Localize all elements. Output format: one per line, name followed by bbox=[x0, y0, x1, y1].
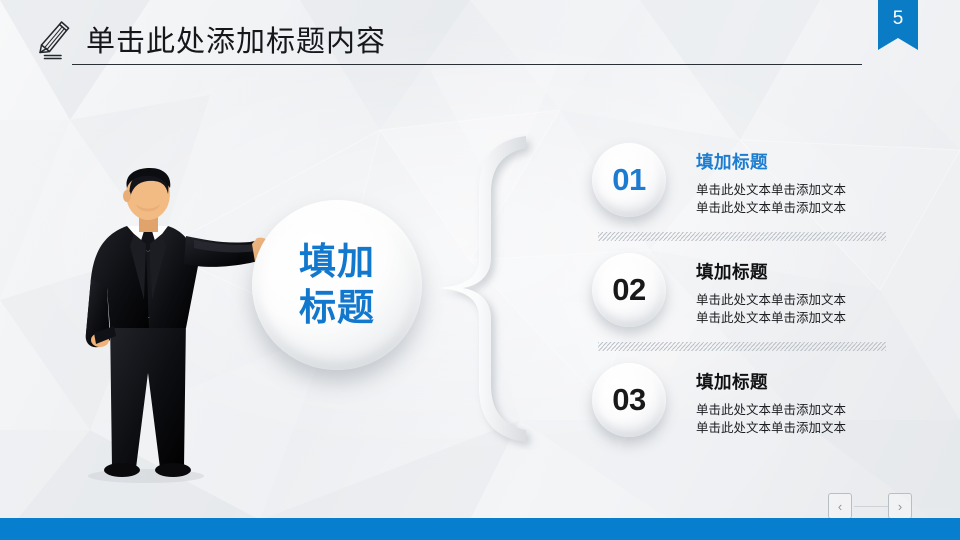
center-title-line1: 填加 bbox=[299, 239, 375, 285]
item-body-line1: 单击此处文本单击添加文本 bbox=[696, 291, 896, 309]
item-body-line2: 单击此处文本单击添加文本 bbox=[696, 309, 896, 327]
item-separator bbox=[598, 232, 886, 241]
curly-brace-decoration bbox=[432, 128, 564, 450]
title-underline bbox=[72, 64, 862, 65]
item-number-circle-02[interactable]: 02 bbox=[592, 253, 666, 327]
item-text-block: 填加标题 单击此处文本单击添加文本 单击此处文本单击添加文本 bbox=[696, 369, 896, 437]
next-slide-button[interactable]: › bbox=[888, 493, 912, 519]
item-body-line2: 单击此处文本单击添加文本 bbox=[696, 419, 896, 437]
item-number-circle-01[interactable]: 01 bbox=[592, 143, 666, 217]
slide-navigation: ‹ › bbox=[828, 493, 912, 519]
businessman-illustration bbox=[74, 168, 269, 483]
item-heading: 填加标题 bbox=[696, 259, 896, 284]
nav-connector-line bbox=[854, 506, 888, 507]
item-separator bbox=[598, 342, 886, 351]
item-number-label: 03 bbox=[612, 382, 645, 418]
item-heading: 填加标题 bbox=[696, 369, 896, 394]
item-number-circle-03[interactable]: 03 bbox=[592, 363, 666, 437]
item-number-label: 02 bbox=[612, 272, 645, 308]
pencil-icon bbox=[30, 18, 76, 66]
item-body-line1: 单击此处文本单击添加文本 bbox=[696, 181, 896, 199]
item-body-line2: 单击此处文本单击添加文本 bbox=[696, 199, 896, 217]
item-text-block: 填加标题 单击此处文本单击添加文本 单击此处文本单击添加文本 bbox=[696, 149, 896, 217]
page-title: 单击此处添加标题内容 bbox=[86, 18, 386, 60]
item-heading: 填加标题 bbox=[696, 149, 896, 174]
page-number-label: 5 bbox=[893, 8, 904, 30]
prev-slide-button[interactable]: ‹ bbox=[828, 493, 852, 519]
item-text-block: 填加标题 单击此处文本单击添加文本 单击此处文本单击添加文本 bbox=[696, 259, 896, 327]
center-title-circle[interactable]: 填加 标题 bbox=[252, 200, 422, 370]
center-title-line2: 标题 bbox=[299, 285, 375, 331]
item-number-label: 01 bbox=[612, 162, 645, 198]
slide-canvas: 单击此处添加标题内容 5 bbox=[0, 0, 960, 540]
item-body-line1: 单击此处文本单击添加文本 bbox=[696, 401, 896, 419]
bottom-accent-bar bbox=[0, 518, 960, 540]
